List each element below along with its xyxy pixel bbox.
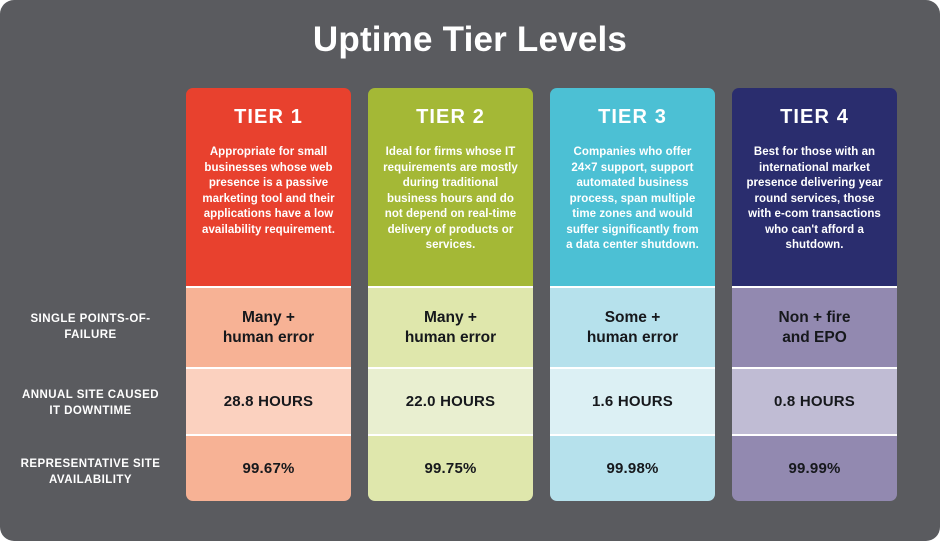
tier-column-4[interactable]: TIER 4 Best for those with an internatio… [732, 88, 897, 501]
tier-column-3[interactable]: TIER 3 Companies who offer 24×7 support,… [550, 88, 715, 501]
tier-header-1: TIER 1 Appropriate for small businesses … [186, 88, 351, 286]
cell-spof-2: Many + human error [368, 286, 533, 367]
row-label-column: SINGLE POINTS-OF-FAILURE ANNUAL SITE CAU… [12, 88, 169, 505]
row-label-availability: REPRESENTATIVE SITE AVAILABILITY [12, 438, 169, 505]
tier-name-3: TIER 3 [562, 106, 703, 129]
page-title: Uptime Tier Levels [0, 18, 940, 62]
cell-availability-1: 99.67% [186, 434, 351, 501]
tier-column-1[interactable]: TIER 1 Appropriate for small businesses … [186, 88, 351, 501]
tier-column-2[interactable]: TIER 2 Ideal for firms whose IT requirem… [368, 88, 533, 501]
cell-spof-4: Non + fire and EPO [732, 286, 897, 367]
cell-availability-4: 99.99% [732, 434, 897, 501]
tier-description-4: Best for those with an international mar… [744, 145, 885, 254]
tier-name-4: TIER 4 [744, 106, 885, 129]
row-label-annual-downtime: ANNUAL SITE CAUSED IT DOWNTIME [12, 369, 169, 436]
tier-header-3: TIER 3 Companies who offer 24×7 support,… [550, 88, 715, 286]
cell-downtime-2: 22.0 HOURS [368, 367, 533, 434]
cell-spof-3: Some + human error [550, 286, 715, 367]
tier-description-3: Companies who offer 24×7 support, suppor… [562, 145, 703, 254]
row-label-single-points-of-failure: SINGLE POINTS-OF-FAILURE [12, 286, 169, 367]
tier-header-4: TIER 4 Best for those with an internatio… [732, 88, 897, 286]
cell-downtime-1: 28.8 HOURS [186, 367, 351, 434]
cell-availability-2: 99.75% [368, 434, 533, 501]
tier-name-1: TIER 1 [198, 106, 339, 129]
cell-availability-3: 99.98% [550, 434, 715, 501]
tier-name-2: TIER 2 [380, 106, 521, 129]
tier-comparison-table: SINGLE POINTS-OF-FAILURE ANNUAL SITE CAU… [12, 88, 928, 505]
tier-header-2: TIER 2 Ideal for firms whose IT requirem… [368, 88, 533, 286]
cell-downtime-3: 1.6 HOURS [550, 367, 715, 434]
tier-description-2: Ideal for firms whose IT requirements ar… [380, 145, 521, 254]
tier-description-1: Appropriate for small businesses whose w… [198, 145, 339, 238]
infographic-canvas: Uptime Tier Levels SINGLE POINTS-OF-FAIL… [0, 0, 940, 541]
cell-downtime-4: 0.8 HOURS [732, 367, 897, 434]
cell-spof-1: Many + human error [186, 286, 351, 367]
